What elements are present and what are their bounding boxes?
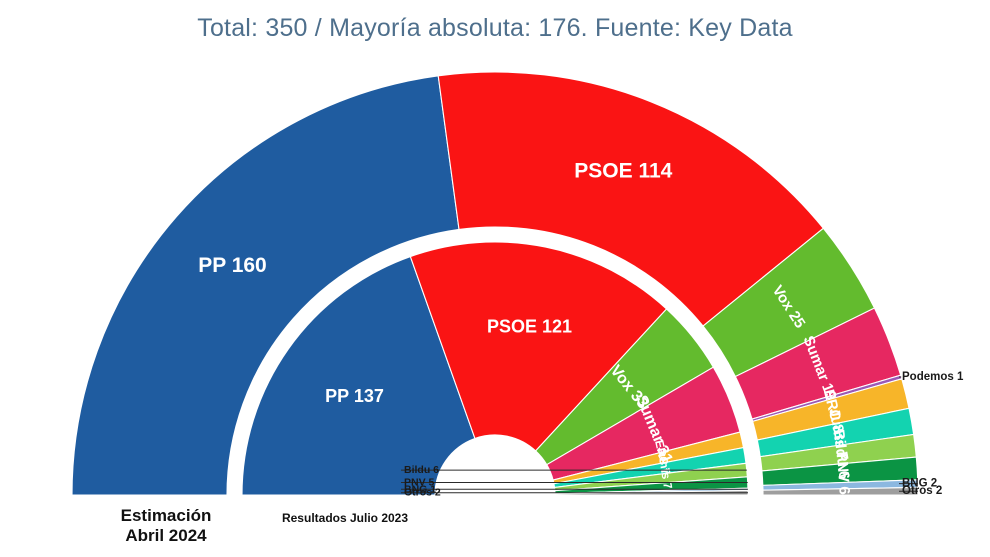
- caption-outer-line1: Estimación: [121, 506, 212, 525]
- slice-label-pnv: PNV 6: [833, 451, 853, 495]
- slice-label-psoe: PSOE 121: [487, 317, 572, 337]
- callout-label-otros: Otros 2: [404, 487, 441, 499]
- callout-label-otros: Otros 2: [902, 485, 942, 497]
- caption-outer-line2: Abril 2024: [125, 526, 207, 545]
- callout-label-podemos: Podemos 1: [902, 371, 964, 383]
- hemicycle-chart: PP 160PSOE 114Vox 25Sumar 19ERC 8Junts 7…: [0, 0, 990, 557]
- slice-label-psoe: PSOE 114: [574, 159, 672, 182]
- chart-root: Total: 350 / Mayoría absoluta: 176. Fuen…: [0, 0, 990, 557]
- callout-label-bildu: Bildu 6: [404, 464, 439, 476]
- slice-label-pp: PP 160: [198, 254, 267, 277]
- slice-label-pp: PP 137: [325, 386, 384, 406]
- caption-inner: Resultados Julio 2023: [282, 511, 408, 525]
